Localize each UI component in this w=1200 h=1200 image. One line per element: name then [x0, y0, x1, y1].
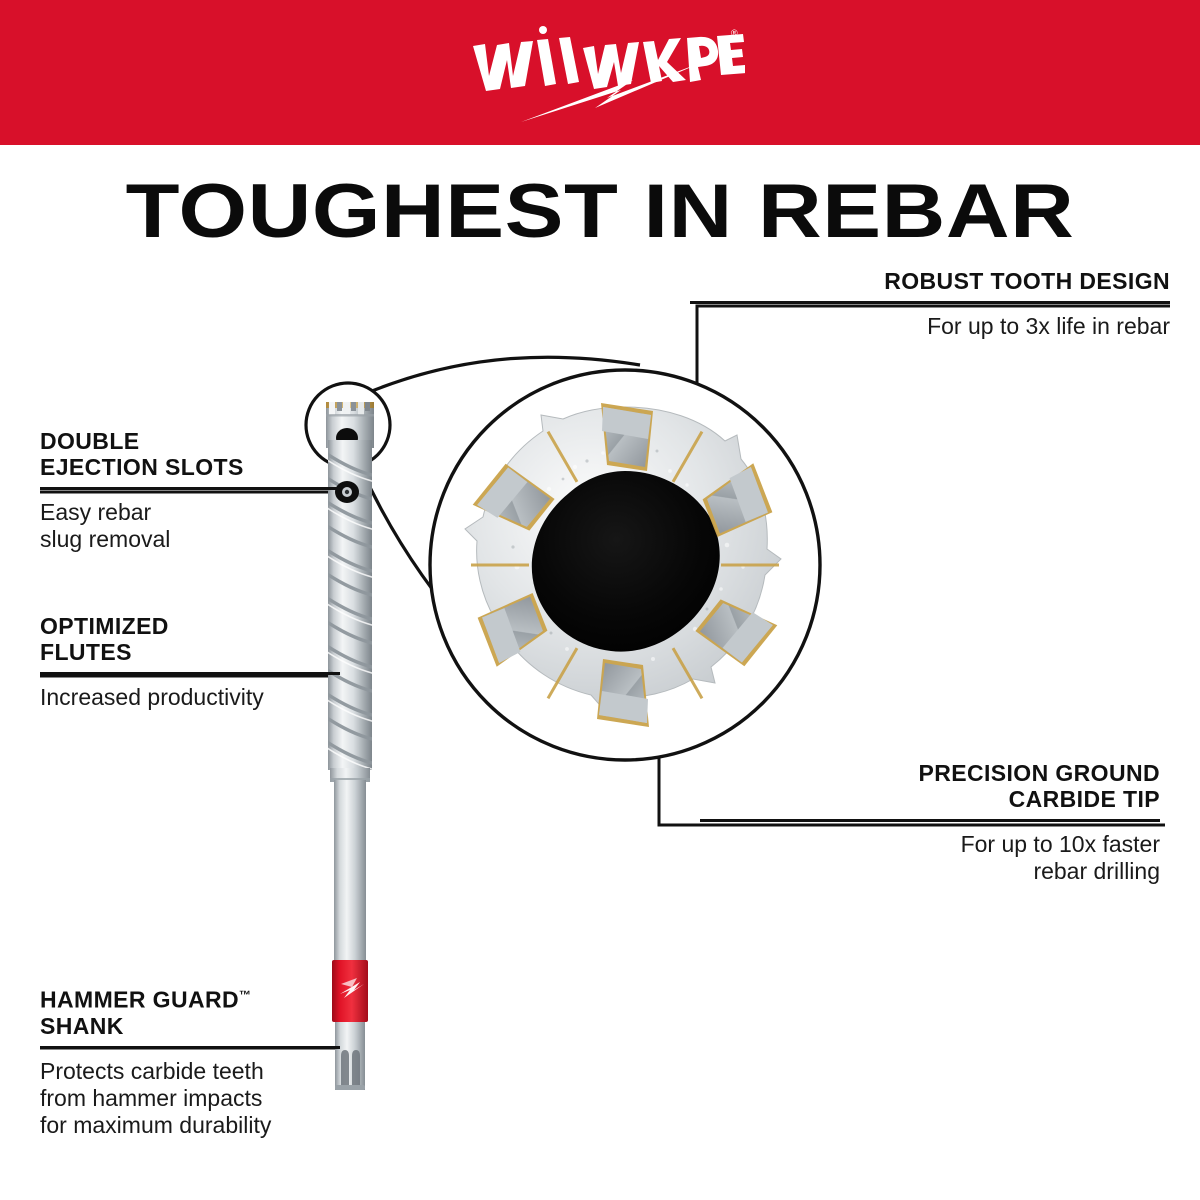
callout-rule	[690, 301, 1170, 304]
callout-heading: ROBUST TOOTH DESIGN	[690, 268, 1170, 294]
brand-header-band: ®	[0, 0, 1200, 145]
callout-double-ejection-slots: DOUBLE EJECTION SLOTS Easy rebar slug re…	[40, 428, 350, 553]
callout-heading: OPTIMIZED FLUTES	[40, 613, 350, 665]
page-title: TOUGHEST IN REBAR	[0, 174, 1200, 250]
callout-hammer-guard-shank: HAMMER GUARD™SHANK Protects carbide teet…	[40, 982, 360, 1139]
carbide-tooth	[597, 659, 649, 727]
callout-rule	[40, 487, 340, 490]
callout-body: Increased productivity	[40, 684, 350, 711]
callout-body: For up to 10x faster rebar drilling	[700, 831, 1160, 885]
registered-mark: ®	[731, 28, 738, 38]
callout-body: Protects carbide teeth from hammer impac…	[40, 1058, 360, 1139]
callout-heading-line2: SHANK	[40, 1013, 124, 1039]
callout-heading: DOUBLE EJECTION SLOTS	[40, 428, 350, 480]
milwaukee-logo-icon: ®	[455, 24, 745, 124]
callout-body: For up to 3x life in rebar	[690, 313, 1170, 340]
callout-optimized-flutes: OPTIMIZED FLUTES Increased productivity	[40, 613, 350, 711]
infographic-page: ® TOUGHEST IN REBAR	[0, 0, 1200, 1200]
callout-rule	[700, 819, 1160, 822]
callout-heading: HAMMER GUARD™SHANK	[40, 982, 360, 1039]
callout-rule	[40, 1046, 340, 1049]
carbide-tooth	[601, 403, 653, 471]
callout-heading: PRECISION GROUND CARBIDE TIP	[700, 760, 1160, 812]
callout-rule	[40, 672, 340, 675]
shank-collar	[330, 768, 370, 782]
callout-robust-tooth-design: ROBUST TOOTH DESIGN For up to 3x life in…	[690, 268, 1170, 340]
callout-heading-line1: HAMMER GUARD	[40, 987, 239, 1013]
trademark-mark: ™	[239, 988, 251, 1002]
callout-body: Easy rebar slug removal	[40, 499, 350, 553]
magnified-tip-view	[425, 367, 825, 767]
callout-precision-ground-carbide-tip: PRECISION GROUND CARBIDE TIP For up to 1…	[700, 760, 1160, 885]
smooth-shank	[334, 780, 366, 980]
